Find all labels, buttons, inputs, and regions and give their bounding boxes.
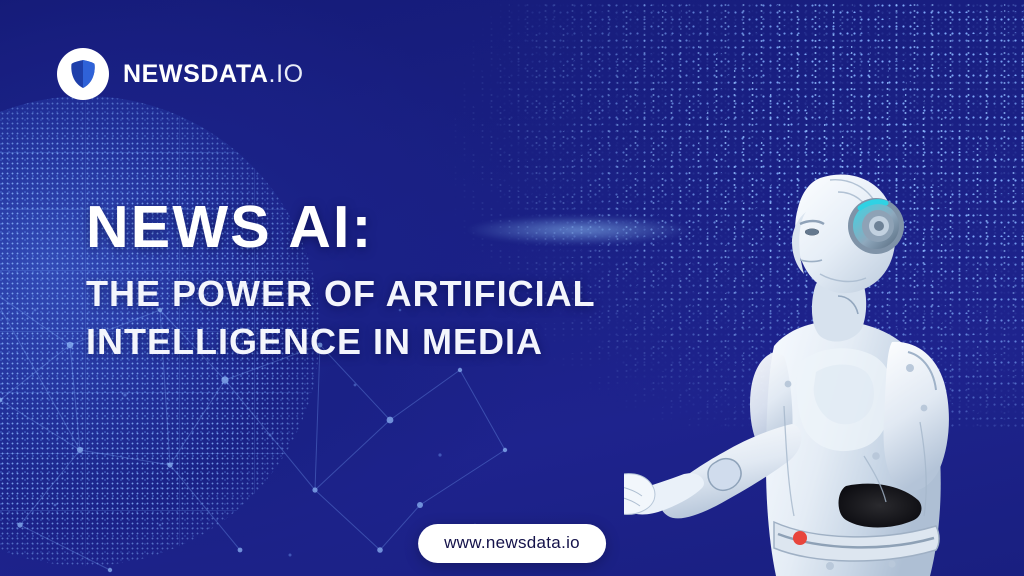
headline-block: NEWS AI: THE POWER OF ARTIFICIAL INTELLI… xyxy=(86,198,596,365)
brand-logo-text: NEWSDATA.IO xyxy=(123,60,304,89)
banner-canvas: NEWSDATA.IO NEWS AI: THE POWER OF ARTIFI… xyxy=(0,0,1024,576)
headline-secondary-line-1: THE POWER OF ARTIFICIAL xyxy=(86,271,596,317)
headline-secondary-line-2: INTELLIGENCE IN MEDIA xyxy=(86,319,596,365)
brand-name-bold: NEWSDATA xyxy=(123,60,269,88)
humanoid-robot-pointing-graphic xyxy=(624,156,1024,576)
shield-in-circle-icon xyxy=(57,48,109,100)
website-url-pill[interactable]: www.newsdata.io xyxy=(418,524,606,563)
brand-logo[interactable]: NEWSDATA.IO xyxy=(57,48,304,100)
robot-shoulder-right xyxy=(884,342,949,491)
robot-belt-indicator xyxy=(793,531,807,545)
headline-primary: NEWS AI: xyxy=(86,198,596,257)
brand-name-light: .IO xyxy=(269,60,304,88)
